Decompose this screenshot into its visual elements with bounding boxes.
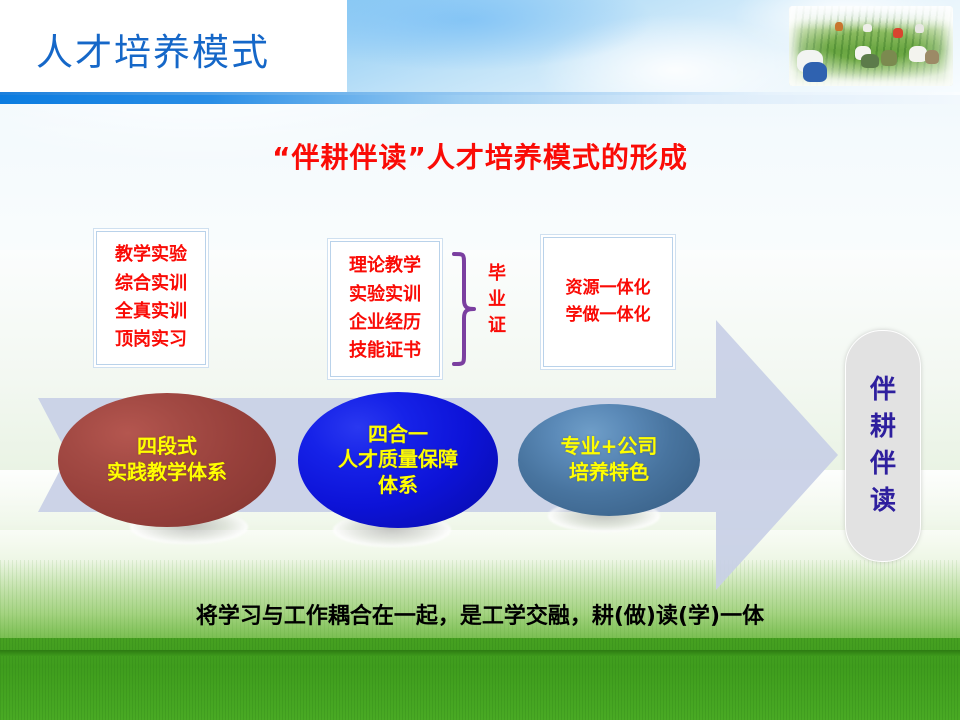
box-line: 技能证书 (349, 337, 421, 365)
pill-char: 读 (870, 483, 896, 520)
slide-caption: 将学习与工作耦合在一起，是工学交融，耕(做)读(学)一体 (0, 598, 960, 630)
four-stage-ellipse[interactable]: 四段式 实践教学体系 (58, 393, 276, 527)
vlabel-char: 业 (484, 287, 510, 313)
vlabel-char: 毕 (484, 261, 510, 287)
integration-box[interactable]: 资源一体化 学做一体化 (543, 237, 673, 367)
box-line: 实验实训 (349, 281, 421, 309)
ellipse-line: 四合一 (368, 422, 428, 448)
practice-teaching-box[interactable]: 教学实验 综合实训 全真实训 顶岗实习 (96, 231, 206, 365)
graduation-certificate-label: 毕 业 证 (484, 261, 510, 339)
header-rule (0, 95, 960, 104)
box-line: 综合实训 (115, 270, 187, 298)
ellipse-line: 四段式 (137, 434, 197, 460)
major-company-ellipse[interactable]: 专业+公司 培养特色 (518, 404, 700, 516)
vlabel-char: 证 (484, 313, 510, 339)
ellipse-line: 体系 (378, 473, 418, 499)
box-line: 企业经历 (349, 309, 421, 337)
quality-assurance-box[interactable]: 理论教学 实验实训 企业经历 技能证书 (330, 241, 440, 377)
right-brace-icon (452, 250, 484, 368)
pill-char: 耕 (870, 409, 896, 446)
ellipse-line: 培养特色 (569, 460, 649, 486)
box-line: 全真实训 (115, 298, 187, 326)
four-in-one-ellipse[interactable]: 四合一 人才质量保障 体系 (298, 392, 498, 528)
pill-char: 伴 (870, 372, 896, 409)
field-workers-photo (789, 6, 953, 86)
box-line: 顶岗实习 (115, 326, 187, 354)
section-title: “伴耕伴读”人才培养模式的形成 (0, 136, 960, 176)
banGengBanDu-pill[interactable]: 伴 耕 伴 读 (845, 330, 921, 562)
grass-divider-line (0, 650, 960, 656)
box-line: 学做一体化 (566, 302, 651, 329)
pill-char: 伴 (870, 446, 896, 483)
box-line: 理论教学 (349, 252, 421, 280)
slide-canvas: 人才培养模式 “伴耕伴读”人才培养模式的形成 四段式 实践教学体系 四合一 人才… (0, 0, 960, 720)
box-line: 资源一体化 (566, 275, 651, 302)
ellipse-line: 实践教学体系 (107, 460, 227, 486)
page-title: 人才培养模式 (36, 22, 270, 76)
ellipse-line: 人才质量保障 (338, 447, 458, 473)
box-line: 教学实验 (115, 241, 187, 269)
ellipse-line: 专业+公司 (561, 434, 658, 460)
